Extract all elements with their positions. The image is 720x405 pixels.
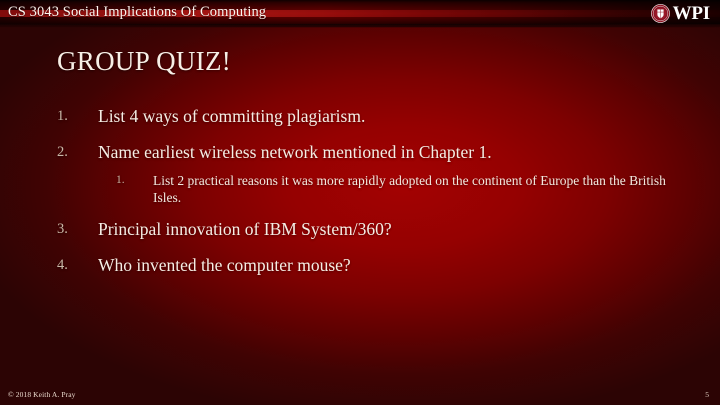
list-item: 4. Who invented the computer mouse? (57, 253, 697, 278)
copyright-notice: © 2018 Keith A. Pray (8, 390, 76, 400)
list-item: 3. Principal innovation of IBM System/36… (57, 217, 697, 242)
sub-list-item-number: 1. (116, 172, 140, 189)
list-item-text: Principal innovation of IBM System/360? (98, 219, 392, 239)
list-item-text: Name earliest wireless network mentioned… (98, 142, 492, 162)
quiz-question-list: 1. List 4 ways of committing plagiarism.… (57, 104, 697, 289)
list-item-number: 4. (57, 253, 83, 278)
course-title: CS 3043 Social Implications Of Computing (8, 2, 266, 22)
wpi-seal-icon (651, 4, 670, 23)
page-number: 5 (705, 390, 709, 400)
list-item-number: 3. (57, 217, 83, 242)
list-item: 2. Name earliest wireless network mentio… (57, 140, 697, 206)
wpi-wordmark: WPI (673, 4, 710, 23)
sub-list-item-text: List 2 practical reasons it was more rap… (153, 173, 666, 205)
list-item-text: List 4 ways of committing plagiarism. (98, 106, 365, 126)
sub-list: 1. List 2 practical reasons it was more … (98, 172, 697, 206)
list-item-number: 2. (57, 140, 83, 165)
wpi-logo: WPI (651, 1, 710, 26)
list-item-number: 1. (57, 104, 83, 129)
header-bottom-edge (0, 24, 720, 28)
list-item-text: Who invented the computer mouse? (98, 255, 351, 275)
slide-title: GROUP QUIZ! (57, 45, 231, 77)
list-item: 1. List 4 ways of committing plagiarism. (57, 104, 697, 129)
presentation-slide: CS 3043 Social Implications Of Computing… (0, 0, 720, 405)
sub-list-item: 1. List 2 practical reasons it was more … (116, 172, 697, 206)
